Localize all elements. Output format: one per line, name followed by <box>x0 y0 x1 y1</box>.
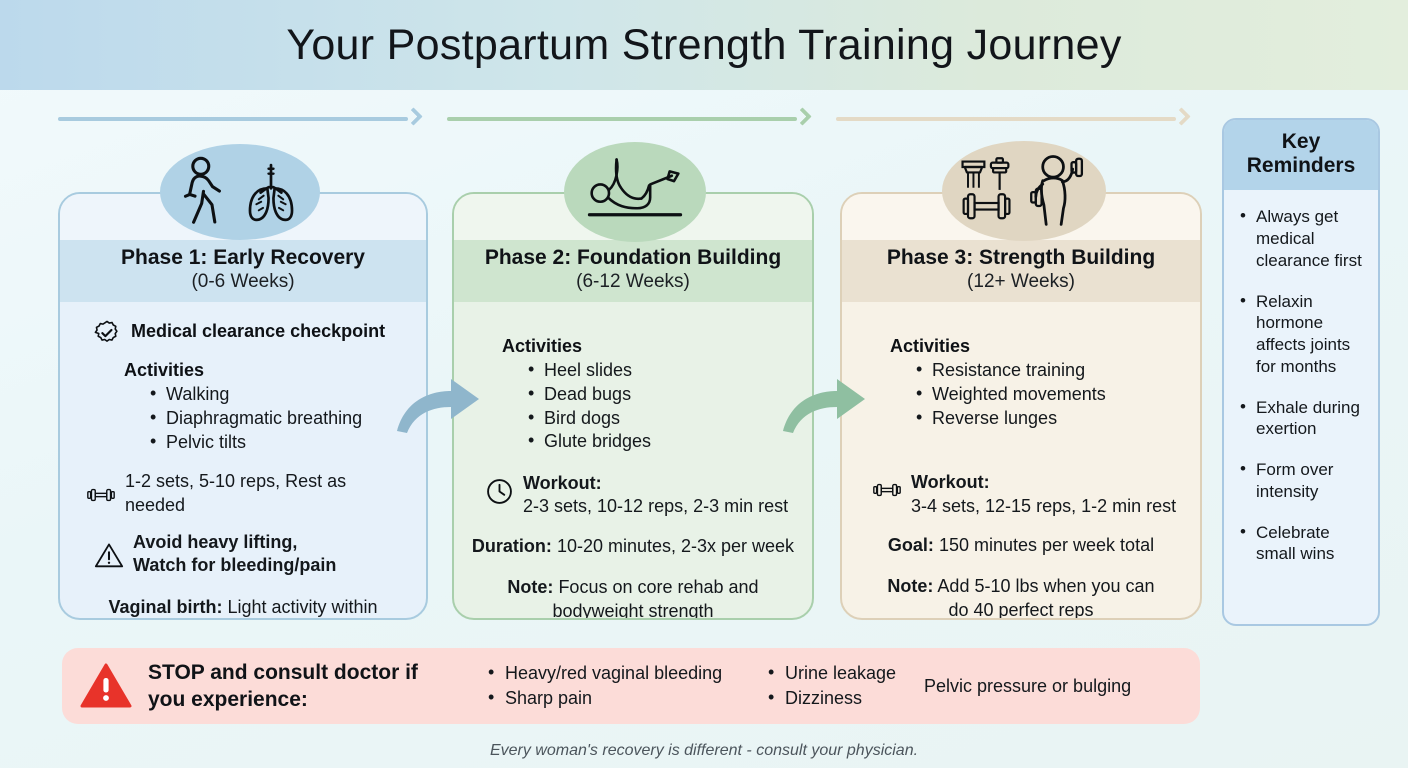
phase-1-sets-row: 1-2 sets, 5-10 reps, Rest as needed <box>86 470 410 517</box>
birth-note-line-1: Vaginal birth: Light activity within <box>86 596 400 618</box>
key-reminders-panel[interactable]: Key Reminders Always get medical clearan… <box>1222 118 1380 626</box>
warning-bar: STOP and consult doctor if you experienc… <box>62 648 1200 724</box>
phase-2-workout-row: Workout: 2-3 sets, 10-12 reps, 2-3 min r… <box>484 472 796 519</box>
warning-symptoms-column-2: Urine leakage Dizziness <box>768 661 916 711</box>
transition-arrow-1 <box>393 373 485 437</box>
phase-3-icon-bubble <box>942 141 1106 241</box>
list-item: Weighted movements <box>916 383 1184 407</box>
walking-person-icon <box>176 156 232 228</box>
list-item: Relaxin hormone affects joints for month… <box>1238 291 1368 378</box>
list-item: Sharp pain <box>488 686 760 711</box>
phase-1-subtitle: (0-6 Weeks) <box>60 270 426 295</box>
clock-icon <box>484 472 514 505</box>
phase-3-workout-text: 3-4 sets, 12-15 reps, 1-2 min rest <box>911 495 1176 518</box>
phase-1-warning-line-2: Watch for bleeding/pain <box>133 554 336 577</box>
phase-3-goal-row: Goal: 150 minutes per week total <box>858 534 1184 557</box>
timeline-arrow-1 <box>58 110 438 128</box>
phase-3-activities-list: Resistance training Weighted movements R… <box>916 359 1184 430</box>
phase-3-activities-label: Activities <box>890 336 1184 357</box>
phase-2-workout-text: 2-3 sets, 10-12 reps, 2-3 min rest <box>523 495 788 518</box>
phase-1-checkpoint-label: Medical clearance checkpoint <box>131 318 385 342</box>
list-item: Exhale during exertion <box>1238 397 1368 441</box>
phase-2-icon-bubble <box>564 142 706 242</box>
dumbbells-icon <box>958 155 1026 227</box>
vaginal-birth-label: Vaginal birth: <box>108 597 227 617</box>
footnote: Every woman's recovery is different - co… <box>0 742 1408 760</box>
phase-1-card[interactable]: Phase 1: Early Recovery (0-6 Weeks) Medi… <box>58 192 428 620</box>
phase-2-activities-list: Heel slides Dead bugs Bird dogs Glute br… <box>528 359 796 454</box>
lifting-person-icon <box>1030 153 1090 229</box>
phase-2-card[interactable]: Phase 2: Foundation Building (6-12 Weeks… <box>452 192 814 620</box>
phase-3-note-line-1: Add 5-10 lbs when you can <box>937 576 1154 596</box>
list-item: Heel slides <box>528 359 796 383</box>
phase-1-icon-bubble <box>160 144 320 240</box>
phase-1-checkpoint: Medical clearance checkpoint <box>92 318 410 346</box>
list-item: Reverse lunges <box>916 407 1184 431</box>
phase-2-note-line-1: Focus on core rehab and <box>558 577 758 597</box>
infographic-page: Your Postpartum Strength Training Journe… <box>0 0 1408 768</box>
phase-3-note-row: Note: Add 5-10 lbs when you can do 40 pe… <box>858 575 1184 618</box>
phase-3-workout-row: Workout: 3-4 sets, 12-15 reps, 1-2 min r… <box>872 471 1184 518</box>
timeline <box>0 110 1408 130</box>
phase-1-warning-row: Avoid heavy lifting, Watch for bleeding/… <box>94 531 410 578</box>
key-reminders-title: Key Reminders <box>1224 120 1378 190</box>
phase-2-duration-label: Duration: <box>472 536 552 556</box>
phase-2-note-label: Note: <box>507 577 553 597</box>
list-item: Always get medical clearance first <box>1238 206 1368 271</box>
key-reminders-title-line-2: Reminders <box>1228 154 1374 178</box>
timeline-arrow-2 <box>447 110 827 128</box>
list-item: Dizziness <box>768 686 916 711</box>
phase-1-activities-list: Walking Diaphragmatic breathing Pelvic t… <box>150 383 410 454</box>
key-reminders-title-line-1: Key <box>1228 130 1374 154</box>
phase-1-activities-label: Activities <box>124 360 410 381</box>
header-banner: Your Postpartum Strength Training Journe… <box>0 0 1408 90</box>
list-item: Resistance training <box>916 359 1184 383</box>
list-item: Celebrate small wins <box>1238 522 1368 566</box>
list-item: Urine leakage <box>768 661 916 686</box>
phase-1-birth-note: Vaginal birth: Light activity withindays… <box>76 596 410 618</box>
page-title: Your Postpartum Strength Training Journe… <box>286 21 1121 70</box>
phase-2-subtitle: (6-12 Weeks) <box>454 270 812 295</box>
lungs-icon <box>238 161 304 223</box>
list-item: Diaphragmatic breathing <box>150 407 410 431</box>
phase-3-card[interactable]: Phase 3: Strength Building (12+ Weeks) A… <box>840 192 1202 620</box>
vaginal-birth-text: Light activity within <box>227 597 377 617</box>
phase-3-title: Phase 3: Strength Building <box>842 246 1200 270</box>
dumbbell-icon <box>86 484 116 504</box>
list-item: Pelvic tilts <box>150 431 410 455</box>
phase-3-note-line-2: do 40 perfect reps <box>858 599 1184 618</box>
timeline-arrow-3 <box>836 110 1206 128</box>
list-item: Bird dogs <box>528 407 796 431</box>
transition-arrow-2 <box>779 373 871 437</box>
phase-3-note-label: Note: <box>887 576 933 596</box>
red-warning-triangle-icon <box>80 662 132 710</box>
phase-3-workout-label: Workout: <box>911 471 1176 494</box>
warning-title-line-2: you experience: <box>148 686 448 713</box>
phase-2-activities-label: Activities <box>502 336 796 357</box>
phase-3-subtitle: (12+ Weeks) <box>842 270 1200 295</box>
phase-2-workout-label: Workout: <box>523 472 788 495</box>
phase-2-note-row: Note: Focus on core rehab and bodyweight… <box>470 576 796 618</box>
phase-2-duration-text: 10-20 minutes, 2-3x per week <box>557 536 794 556</box>
dumbbell-icon <box>872 471 902 499</box>
warning-symptoms-column-3: Pelvic pressure or bulging <box>924 674 1194 699</box>
key-reminders-list: Always get medical clearance first Relax… <box>1224 190 1378 592</box>
phase-2-note-line-2: bodyweight strength <box>470 600 796 618</box>
list-item: Glute bridges <box>528 430 796 454</box>
warning-title-line-1: STOP and consult doctor if <box>148 659 448 686</box>
list-item: Form over intensity <box>1238 459 1368 503</box>
phase-1-title: Phase 1: Early Recovery <box>60 246 426 270</box>
leg-raise-exercise-icon <box>583 154 687 230</box>
phase-1-warning-line-1: Avoid heavy lifting, <box>133 531 336 554</box>
list-item: Walking <box>150 383 410 407</box>
phase-2-title: Phase 2: Foundation Building <box>454 246 812 270</box>
phase-2-duration-row: Duration: 10-20 minutes, 2-3x per week <box>470 535 796 558</box>
verified-badge-icon <box>92 318 122 346</box>
phase-3-goal-label: Goal: <box>888 535 934 555</box>
phase-1-sets-text: 1-2 sets, 5-10 reps, Rest as needed <box>125 470 410 517</box>
warning-symptoms-column-1: Heavy/red vaginal bleeding Sharp pain <box>488 661 760 711</box>
list-item: Heavy/red vaginal bleeding <box>488 661 760 686</box>
warning-triangle-icon <box>94 540 124 569</box>
list-item: Pelvic pressure or bulging <box>924 674 1194 699</box>
phase-3-goal-text: 150 minutes per week total <box>939 535 1154 555</box>
list-item: Dead bugs <box>528 383 796 407</box>
